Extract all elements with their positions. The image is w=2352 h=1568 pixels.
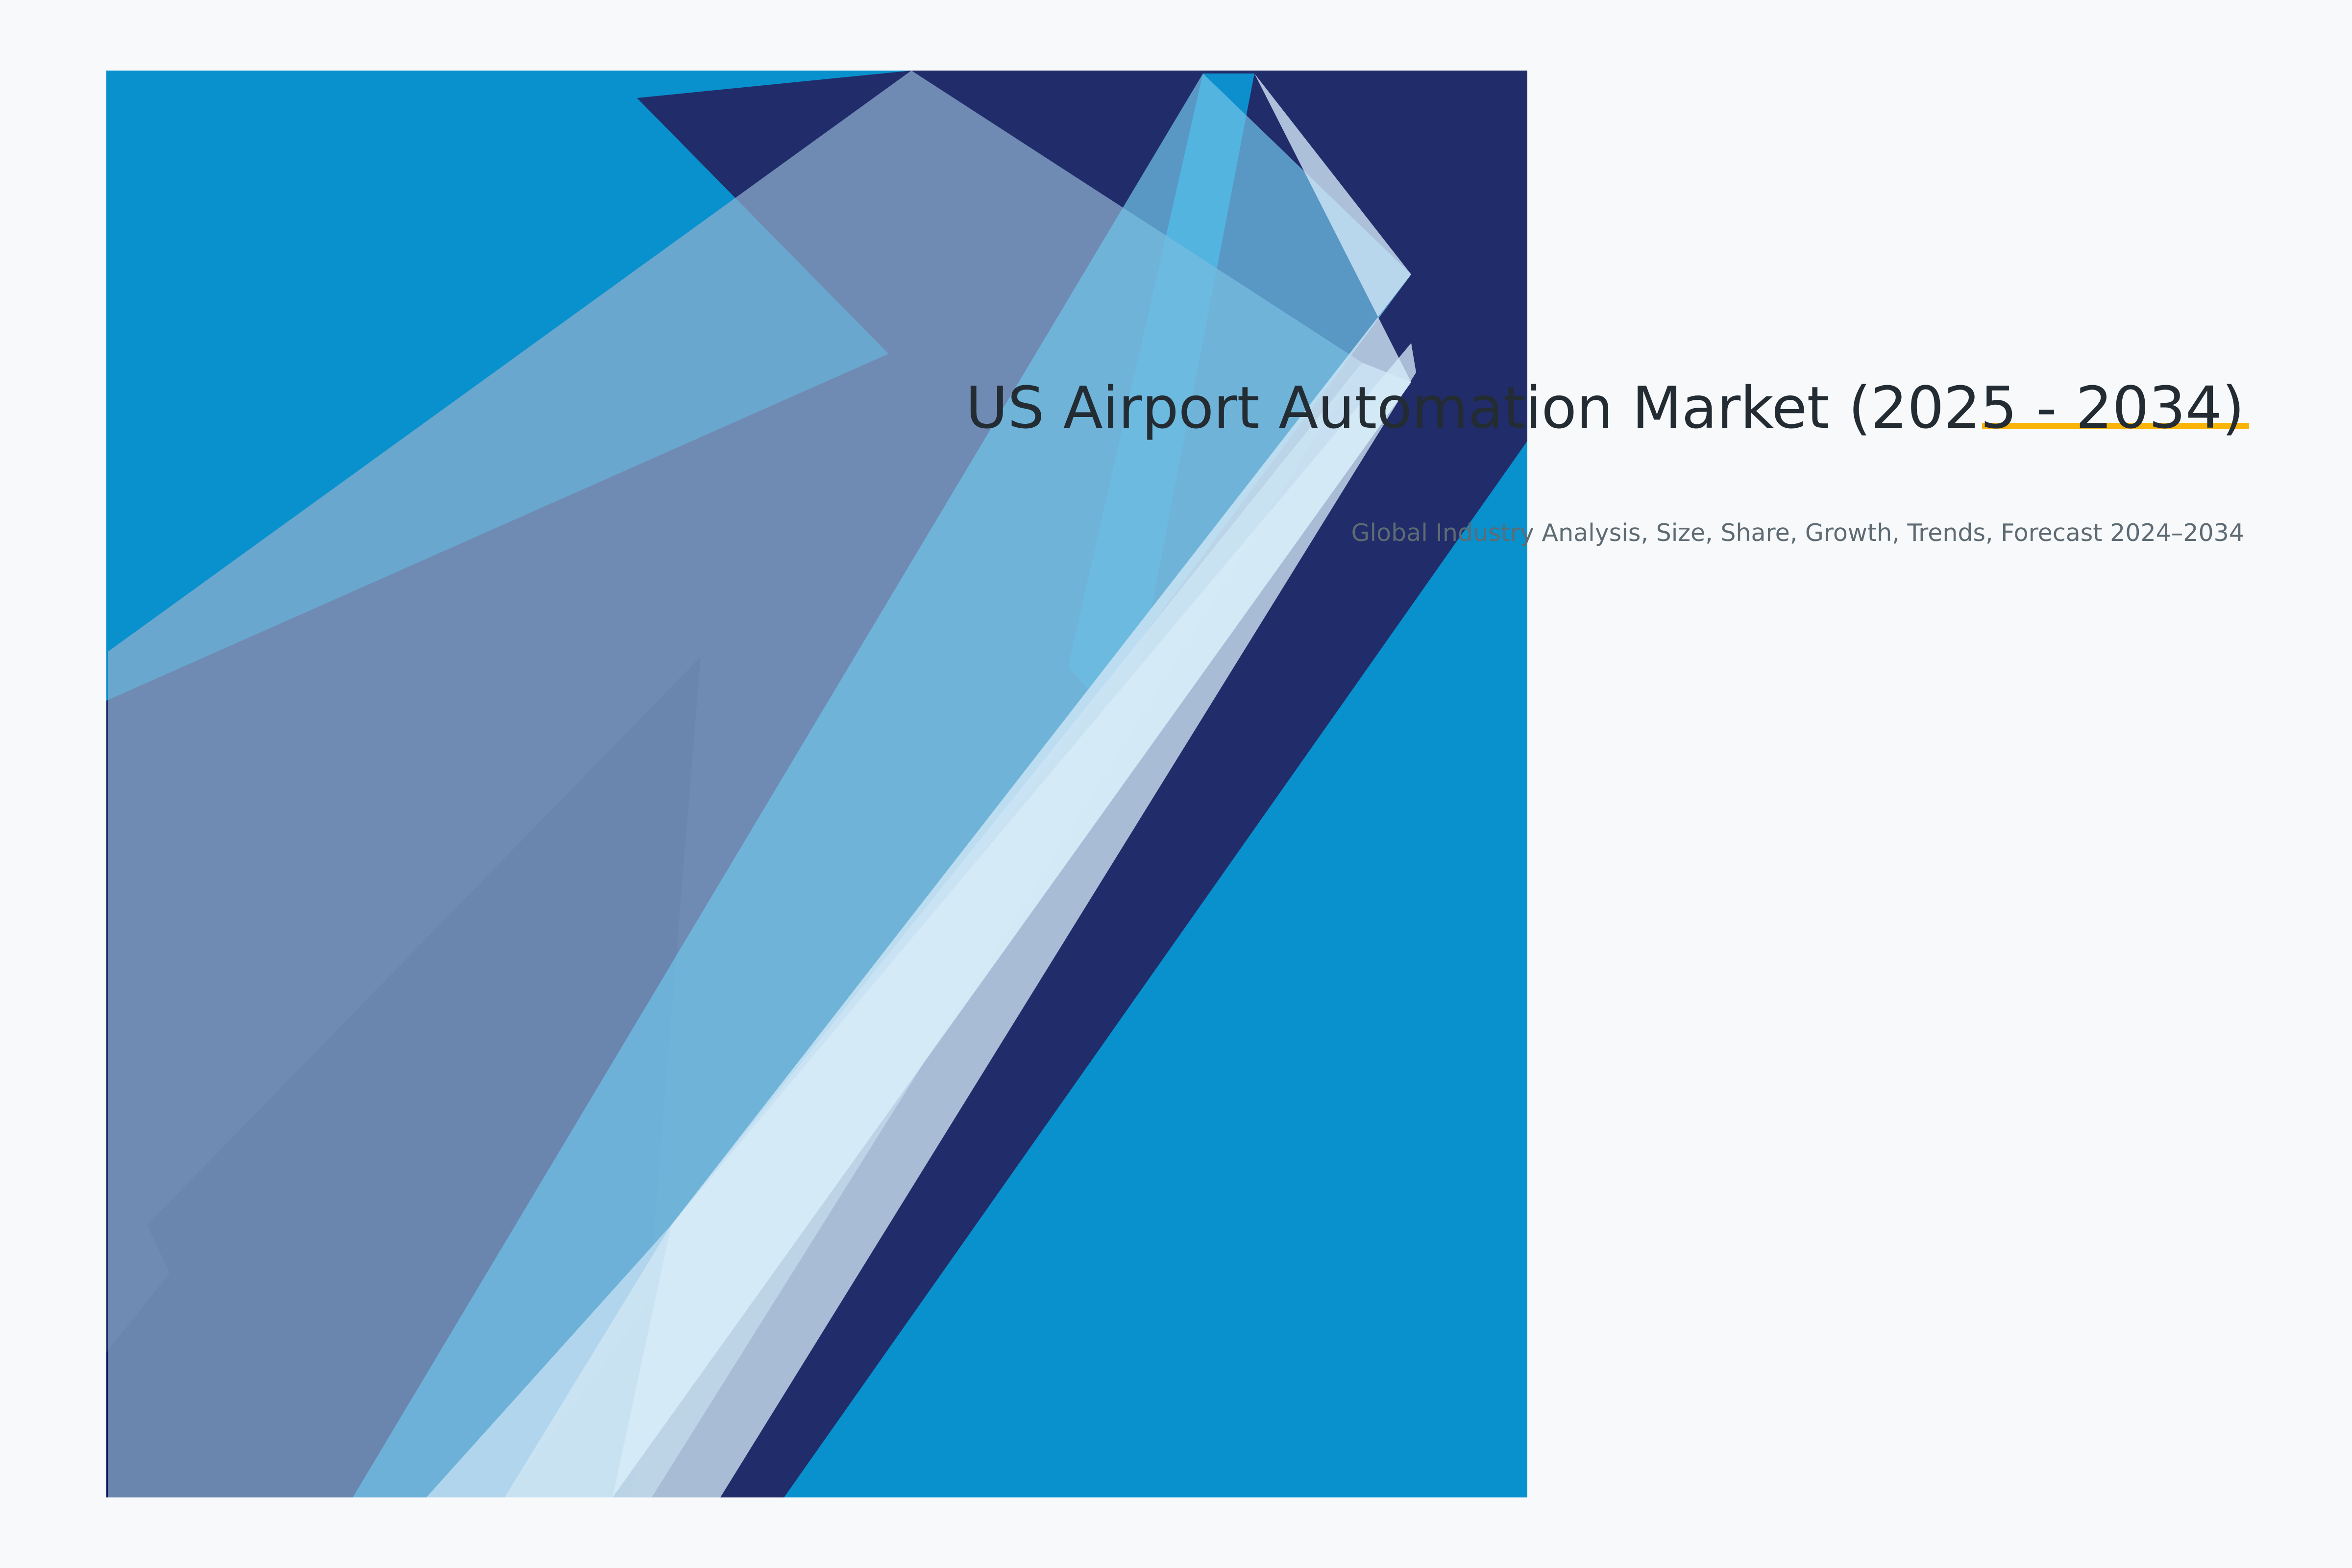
title-slide: US Airport Automation Market (2025 - 203… — [0, 0, 2352, 1568]
page-subtitle: Global Industry Analysis, Size, Share, G… — [892, 443, 2244, 549]
page-title: US Airport Automation Market (2025 - 203… — [892, 372, 2244, 443]
abstract-geometric-artwork — [0, 0, 2352, 1568]
title-wrapper: US Airport Automation Market (2025 - 203… — [892, 372, 2244, 443]
title-text-block: US Airport Automation Market (2025 - 203… — [892, 372, 2244, 549]
